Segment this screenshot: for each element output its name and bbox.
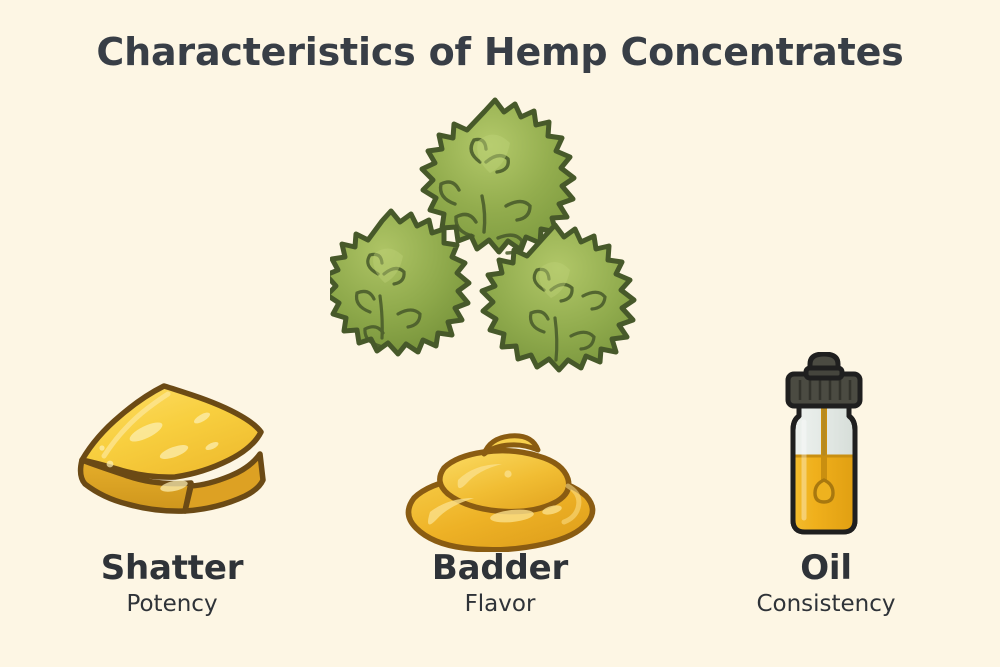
- badder-dollop-icon: [392, 412, 607, 552]
- item-caption-badder: Badder Flavor: [350, 548, 650, 620]
- item-sublabel-badder: Flavor: [350, 590, 650, 620]
- item-caption-oil: Oil Consistency: [676, 548, 976, 620]
- oil-dropper-bottle-icon: [762, 352, 892, 552]
- hemp-buds-icon: [330, 96, 675, 396]
- item-title-shatter: Shatter: [22, 548, 322, 588]
- shatter-slab-icon: [62, 368, 292, 533]
- item-sublabel-shatter: Potency: [22, 590, 322, 620]
- item-title-badder: Badder: [350, 548, 650, 588]
- item-caption-shatter: Shatter Potency: [22, 548, 322, 620]
- infographic-canvas: Characteristics of Hemp Concentrates: [0, 0, 1000, 667]
- page-title: Characteristics of Hemp Concentrates: [0, 30, 1000, 74]
- item-sublabel-oil: Consistency: [676, 590, 976, 620]
- item-title-oil: Oil: [676, 548, 976, 588]
